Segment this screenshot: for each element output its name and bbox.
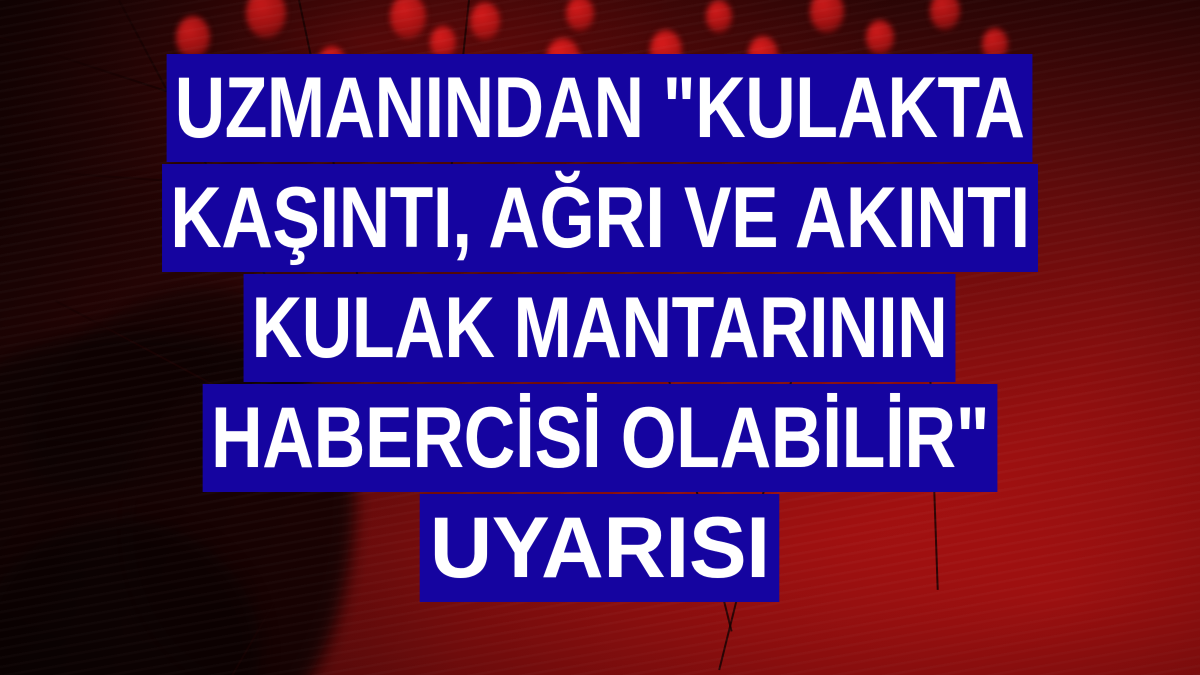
headline-line-3: KULAK MANTARININ [244,274,956,382]
headline-line-2: KAŞINTI, AĞRI VE AKINTI [162,164,1038,272]
headline-line-5: UYARISI [420,494,780,602]
headline-block: UZMANINDAN "KULAKTA KAŞINTI, AĞRI VE AKI… [0,54,1200,604]
headline-line-4: HABERCİSİ OLABİLİR" [203,384,998,492]
headline-line-1: UZMANINDAN "KULAKTA [167,54,1033,162]
headline-graphic: UZMANINDAN "KULAKTA KAŞINTI, AĞRI VE AKI… [0,0,1200,675]
